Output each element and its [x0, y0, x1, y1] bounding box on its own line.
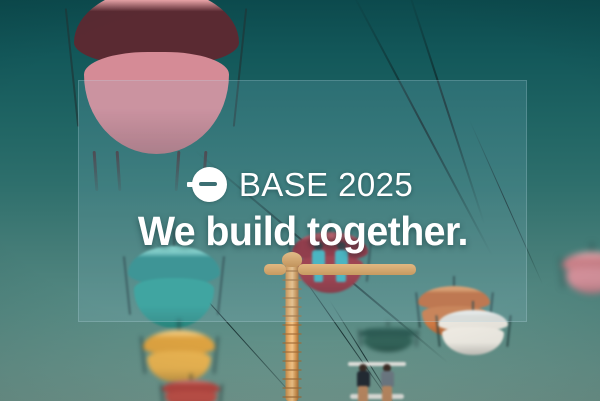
hero-text-block: BASE 2025 We build together. — [78, 80, 527, 322]
hero-banner: BASE 2025 We build together. — [0, 0, 600, 401]
circle-minus-icon — [192, 167, 227, 202]
brand-name: BASE 2025 — [239, 168, 413, 201]
hero-headline: We build together. — [137, 210, 467, 253]
brand-row: BASE 2025 — [192, 167, 413, 202]
